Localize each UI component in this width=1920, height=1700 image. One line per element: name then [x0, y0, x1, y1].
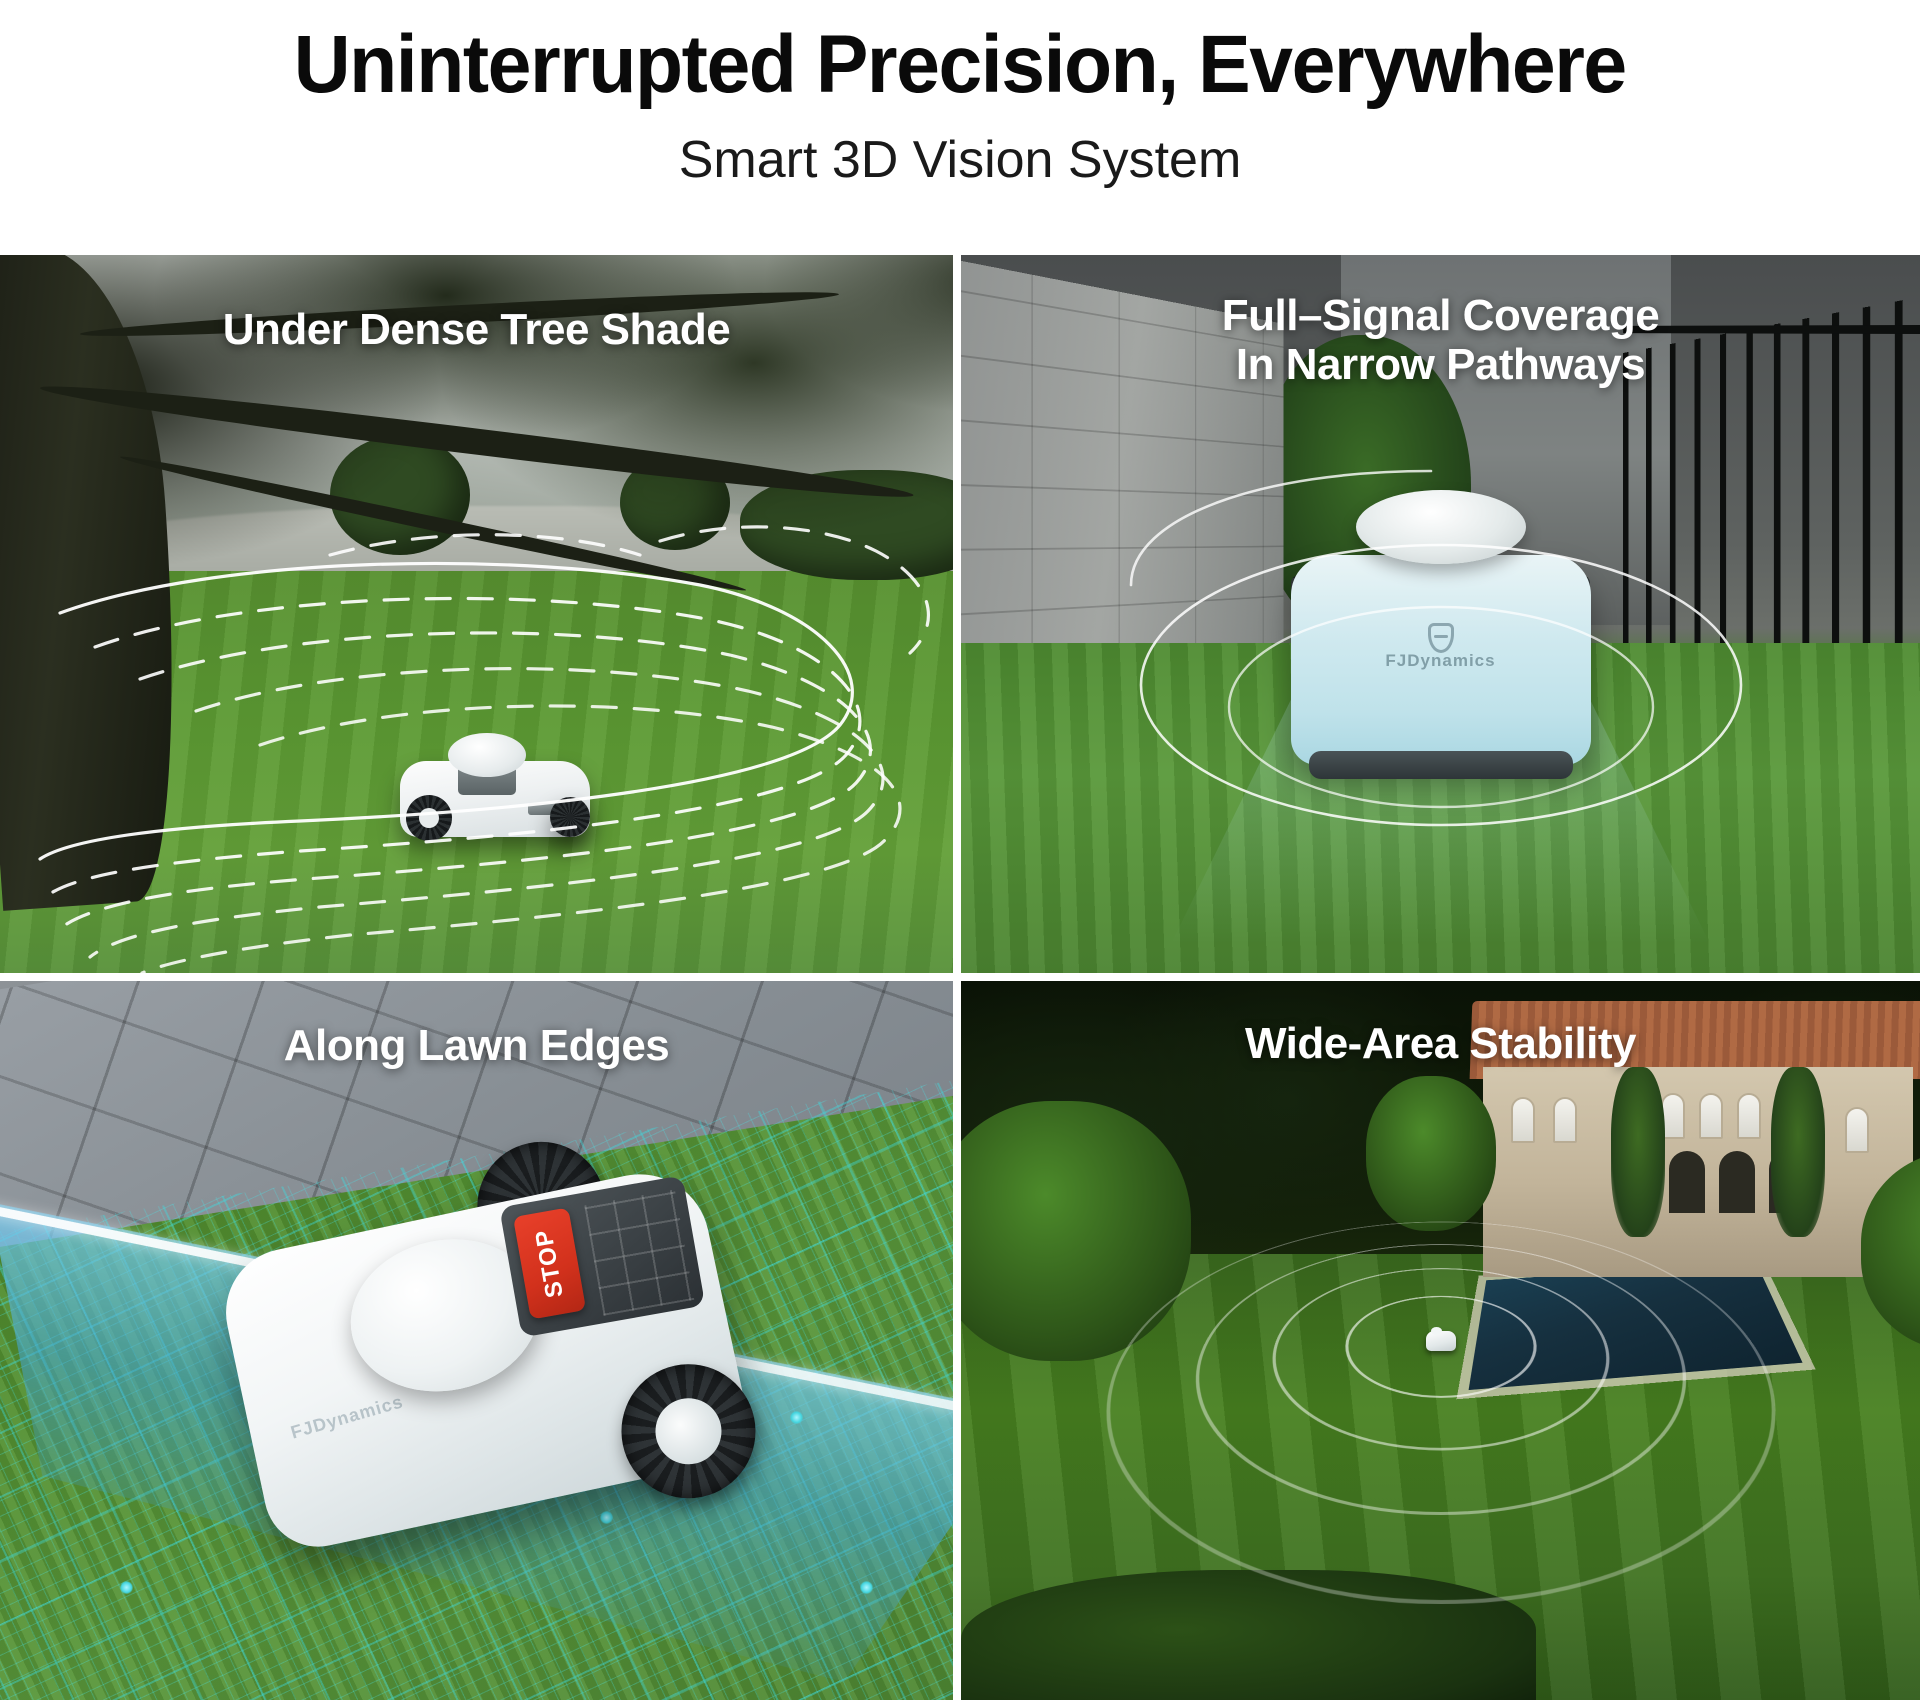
- panel-caption-wide-area: Wide-Area Stability: [961, 1019, 1920, 1068]
- panel-caption-narrow-pathways: Full–Signal Coverage In Narrow Pathways: [961, 291, 1920, 390]
- page-subtitle: Smart 3D Vision System: [679, 130, 1242, 190]
- grid-node: [860, 1581, 873, 1594]
- page-title: Uninterrupted Precision, Everywhere: [294, 22, 1626, 108]
- grid-gap-center: [953, 973, 961, 981]
- robot-mower[interactable]: [1426, 1331, 1456, 1351]
- mowing-path-overlay: [0, 255, 953, 973]
- grid-node: [790, 1411, 803, 1424]
- arched-doorway: [1669, 1151, 1705, 1213]
- tree: [1366, 1076, 1496, 1231]
- arched-doorway: [1719, 1151, 1755, 1213]
- ivy-growth: [1611, 1067, 1665, 1237]
- grid-gap-horizontal: [0, 973, 953, 981]
- keypad-buttons[interactable]: [584, 1189, 694, 1315]
- panel-under-dense-tree-shade[interactable]: Under Dense Tree Shade: [0, 255, 953, 973]
- scenario-panel-grid: Under Dense Tree Shade FJDynamics Full–S…: [0, 255, 1920, 1700]
- panel-along-lawn-edges[interactable]: FJDynamics STOP Along Lawn Edges: [0, 981, 953, 1700]
- panel-full-signal-coverage[interactable]: FJDynamics Full–Signal Coverage In Narro…: [961, 255, 1920, 973]
- window: [1511, 1097, 1535, 1143]
- panel-caption-tree-shade: Under Dense Tree Shade: [0, 305, 953, 354]
- panel-wide-area-stability[interactable]: Wide-Area Stability: [961, 981, 1920, 1700]
- window: [1553, 1097, 1577, 1143]
- stop-button-label: STOP: [530, 1227, 570, 1300]
- grid-gap-vertical: [953, 981, 961, 1700]
- panel-caption-lawn-edges: Along Lawn Edges: [0, 1021, 953, 1070]
- grid-node: [600, 1511, 613, 1524]
- grid-gap-vertical: [953, 255, 961, 973]
- window: [1845, 1107, 1869, 1153]
- grid-node: [120, 1581, 133, 1594]
- grid-gap-horizontal: [961, 973, 1920, 981]
- page-header: Uninterrupted Precision, Everywhere Smar…: [0, 0, 1920, 255]
- ivy-growth: [1771, 1067, 1825, 1237]
- window: [1699, 1093, 1723, 1139]
- window: [1737, 1093, 1761, 1139]
